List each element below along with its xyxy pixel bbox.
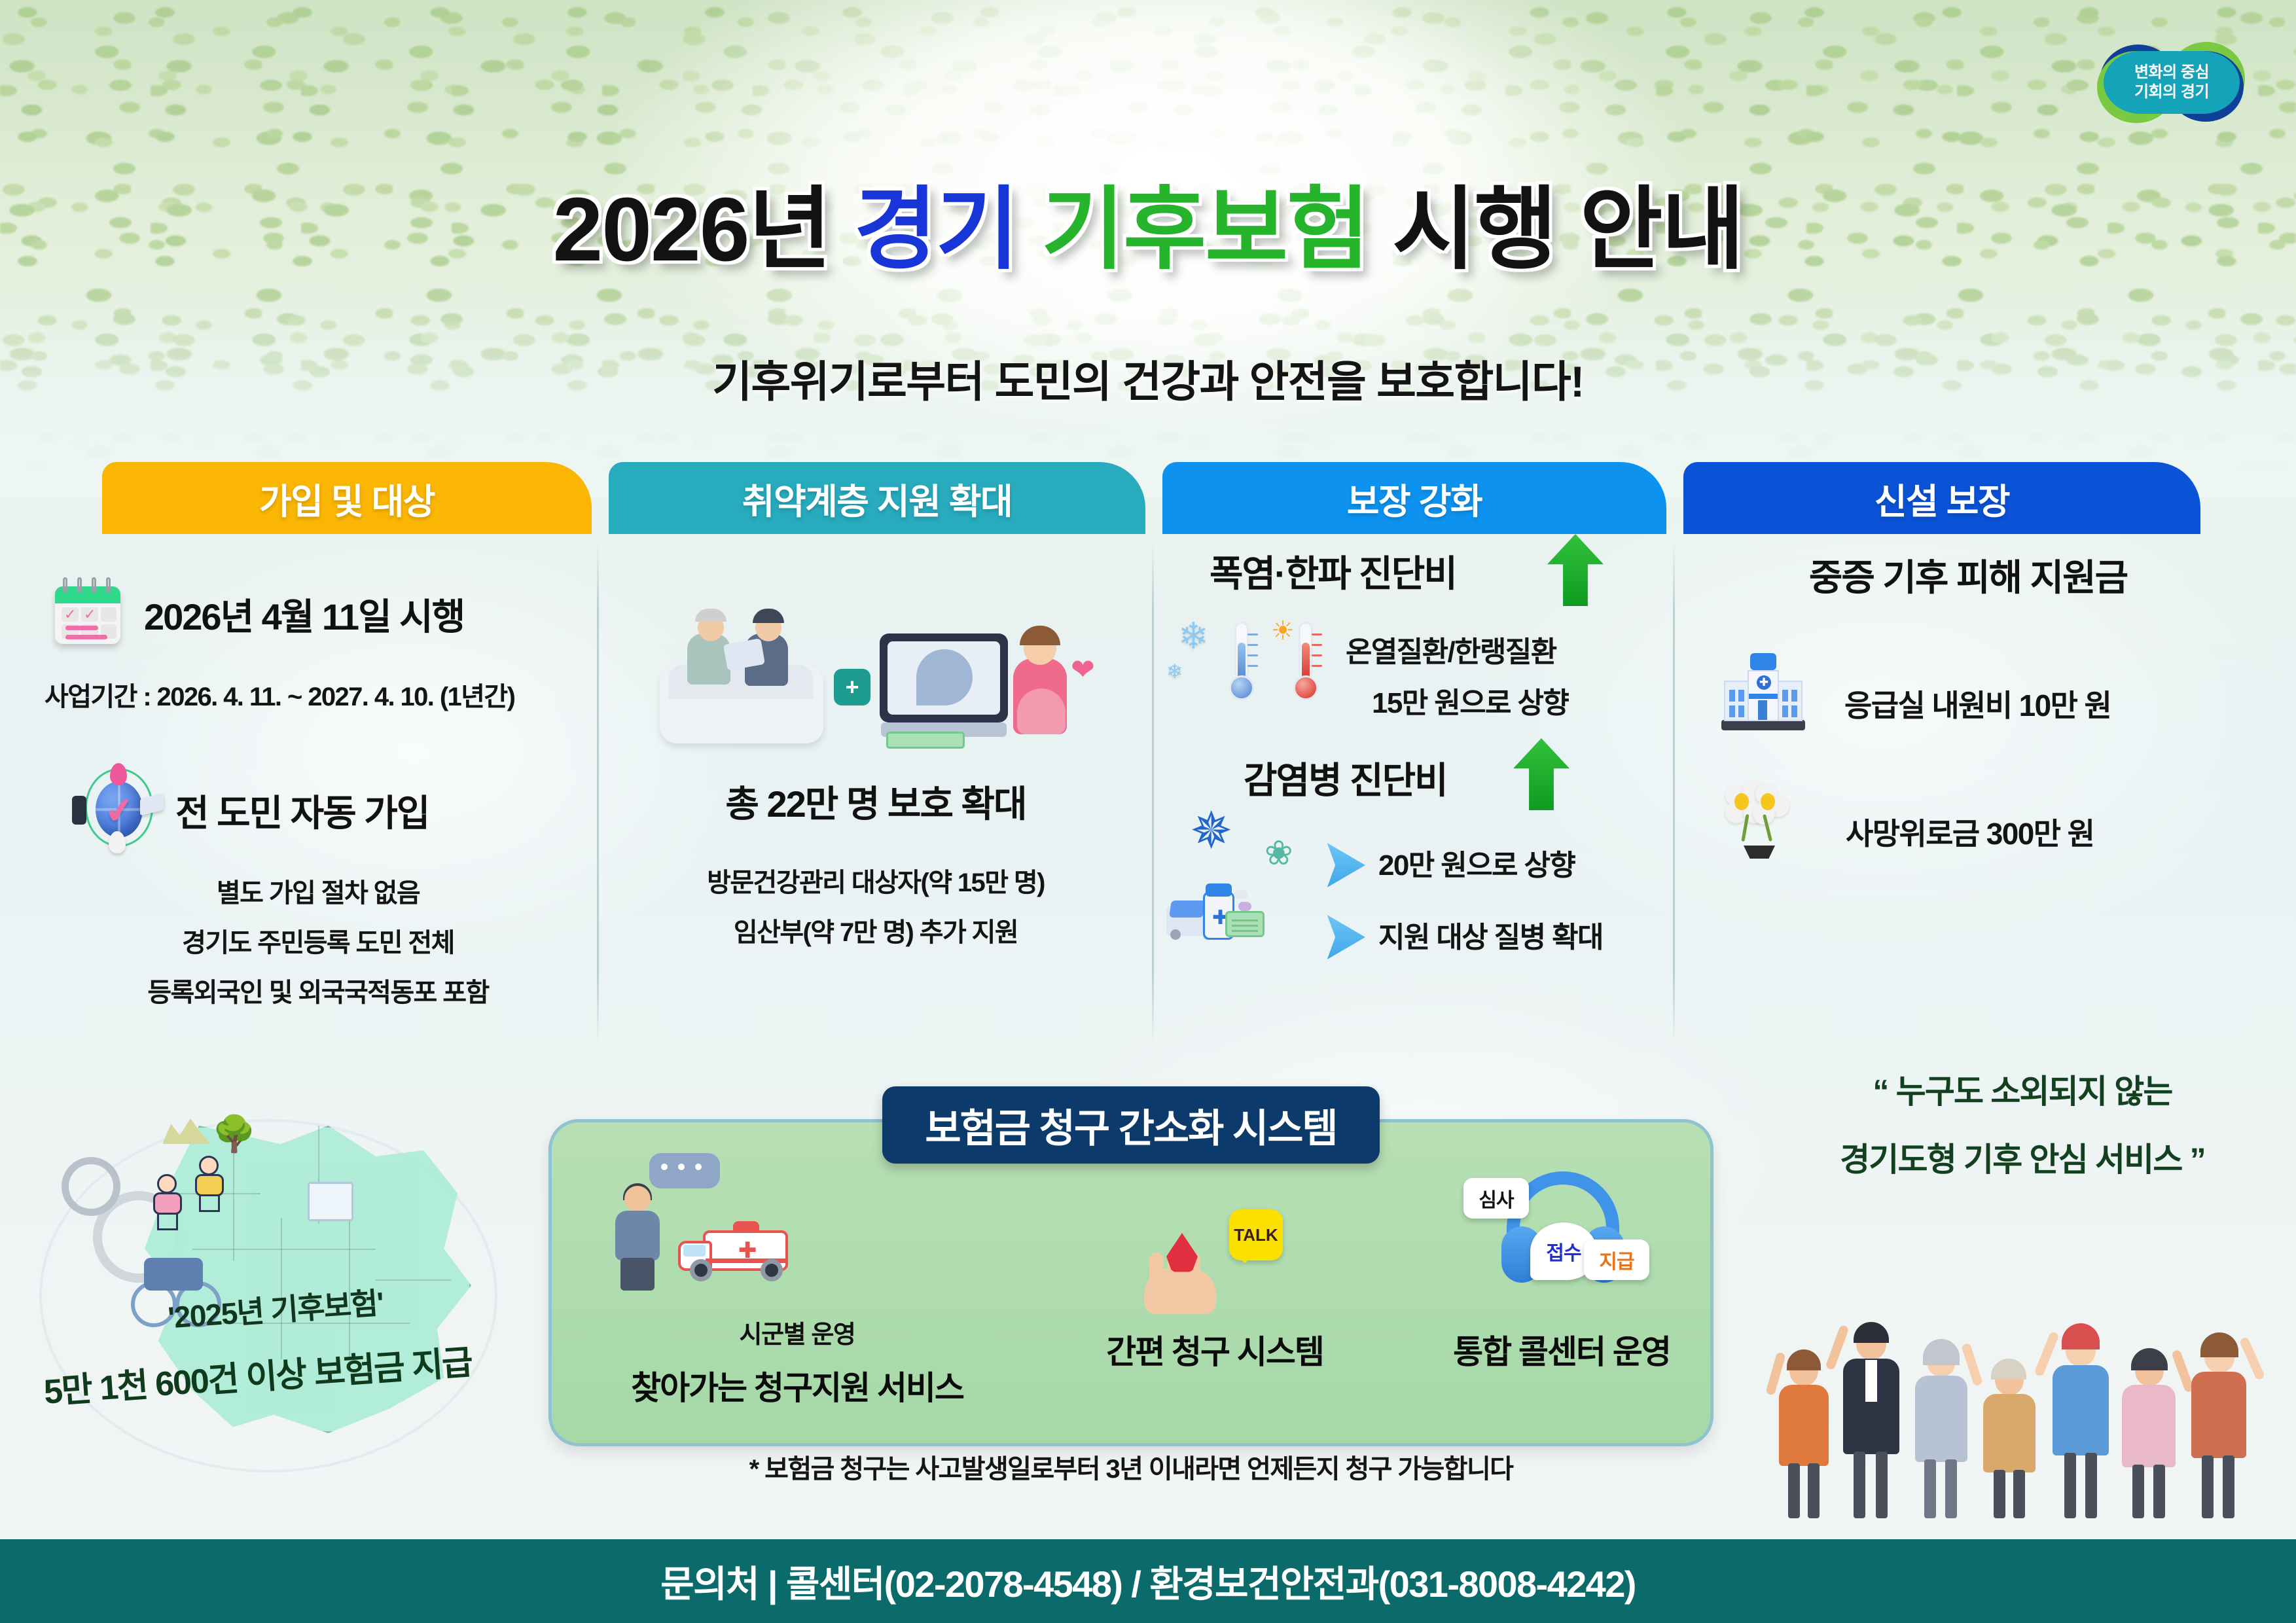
heart-icon: ❤: [1071, 656, 1095, 685]
coverage-detail-2a: 20만 원으로 상향: [1378, 842, 1575, 883]
footer-contact-text: 문의처 | 콜센터(02-2078-4548) / 환경보건안전과(031-80…: [660, 1555, 1636, 1608]
claim-system-badge-label: 보험금 청구 간소화 시스템: [925, 1097, 1336, 1154]
outreach-staff-icon: [609, 1186, 665, 1291]
vulnerable-heading: 총 22만 명 보호 확대: [601, 775, 1151, 828]
column-coverage: 폭염·한파 진단비 ❄ ❄ ☀ 온열질환/한랭질환 15만 원으로 상향 감염병…: [1156, 534, 1673, 1058]
sun-icon: ☀: [1271, 618, 1295, 644]
section-tabs: 가입 및 대상 취약계층 지원 확대 보장 강화 신설 보장: [0, 462, 2296, 534]
footer-contact-bar: 문의처 | 콜센터(02-2078-4548) / 환경보건안전과(031-80…: [0, 1539, 2296, 1623]
tab-new-coverage-label: 신설 보장: [1874, 473, 2009, 524]
crowd-person-3: [1905, 1314, 1978, 1518]
title-part-gyeonggi: 경기: [854, 179, 1041, 280]
signup-heading-2: 전 도민 자동 가입: [175, 784, 429, 837]
headset-icon: 심사 접수 지급: [1484, 1166, 1641, 1297]
claim-item-outreach[interactable]: 시군별 운영 찾아가는 청구지원 서비스: [575, 1314, 1020, 1409]
signup-period-line: 사업기간 : 2026. 4. 11. ~ 2027. 4. 10. (1년간): [45, 675, 514, 713]
gyeonggi-map-block: 🌳 '2025년 기후보험' 5만 1천 600건 이상 보험금 지급: [52, 1106, 550, 1492]
service-quote-line-1: “ 누구도 소외되지 않는: [1761, 1067, 2284, 1118]
cyclist-icon: [144, 1258, 203, 1291]
claim-item-callcenter[interactable]: 통합 콜센터 운영: [1391, 1326, 1732, 1373]
gyeonggi-logo: 변화의 중심 기회의 경기: [2096, 41, 2248, 124]
kakao-talk-label: TALK: [1234, 1225, 1278, 1245]
blue-triangle-icon-1: [1325, 843, 1365, 887]
kid-icon-2: [190, 1156, 229, 1212]
column-divider-1: [597, 541, 599, 1044]
coverage-detail-1b: 15만 원으로 상향: [1372, 679, 1568, 721]
kakao-talk-icon: TALK: [1229, 1209, 1283, 1260]
bacteria-icon: ❀: [1265, 836, 1293, 870]
column-signup: ✓ ✓ 2026년 4월 11일 시행 사업기간 : 2026. 4. 11. …: [39, 534, 597, 1058]
virus-icon: ✵: [1190, 805, 1232, 856]
tab-signup[interactable]: 가입 및 대상: [102, 462, 592, 534]
claim-footnote: * 보험금 청구는 사고발생일로부터 3년 이내라면 언제든지 청구 가능합니다: [548, 1448, 1713, 1486]
title-part-climate-insurance: 기후보험: [1041, 179, 1392, 280]
crowd-person-7: [2179, 1310, 2258, 1518]
tree-icon: 🌳: [212, 1116, 256, 1152]
logo-line-1: 변화의 중심: [2134, 63, 2209, 82]
up-arrow-icon-2: [1513, 738, 1570, 810]
thermometer-hot-icon: [1291, 622, 1321, 700]
blue-triangle-icon-2: [1325, 915, 1365, 959]
speech-bubble-icon: [649, 1153, 720, 1188]
column-new-coverage: 중증 기후 피해 지원금 ✚ 응급실 내원비 10만 원 사망위로금 300만 …: [1677, 534, 2259, 1058]
snowflake-icon-small: ❄: [1166, 662, 1183, 682]
signup-heading-1: 2026년 4월 11일 시행: [144, 588, 464, 641]
crowd-illustration: [1767, 1237, 2284, 1518]
calendar-icon: ✓ ✓: [52, 577, 123, 645]
gear-icon-small: [62, 1157, 120, 1216]
headset-tag-payment: 지급: [1584, 1240, 1649, 1280]
claim-item-callcenter-main: 통합 콜센터 운영: [1391, 1326, 1732, 1373]
claim-item-simple-claim[interactable]: 간편 청구 시스템: [1031, 1326, 1398, 1373]
column-divider-3: [1673, 541, 1675, 1044]
vulnerable-detail-2: 임산부(약 7만 명) 추가 지원: [601, 911, 1151, 949]
coverage-heading-1: 폭염·한파 진단비: [1210, 544, 1456, 597]
snowflake-icon: ❄: [1178, 618, 1209, 654]
signup-detail-1: 별도 가입 절차 없음: [39, 872, 597, 910]
claim-item-simple-claim-main: 간편 청구 시스템: [1031, 1326, 1398, 1373]
headset-tag-review: 심사: [1463, 1178, 1529, 1219]
hospital-icon: ✚: [1720, 652, 1806, 730]
tab-coverage-label: 보장 강화: [1347, 473, 1482, 524]
money-icon: [886, 732, 965, 749]
tab-signup-label: 가입 및 대상: [259, 473, 435, 524]
logo-core: 변화의 중심 기회의 경기: [2104, 51, 2240, 114]
crowd-person-2: [1831, 1302, 1910, 1518]
flowers-icon: [1724, 780, 1796, 859]
medicine-icon: ✚: [1166, 861, 1265, 940]
service-quote: “ 누구도 소외되지 않는 경기도형 기후 안심 서비스 ”: [1761, 1067, 2284, 1185]
vulnerable-detail-1: 방문건강관리 대상자(약 15만 명): [601, 861, 1151, 899]
crowd-person-6: [2111, 1318, 2187, 1518]
coverage-heading-2: 감염병 진단비: [1244, 751, 1447, 804]
title-part-year: 2026년: [553, 179, 854, 280]
auto-enroll-globe-icon: ✔: [76, 764, 162, 851]
poster-subtitle: 기후위기로부터 도민의 건강과 안전을 보호합니다!: [0, 347, 2296, 410]
coverage-detail-1a: 온열질환/한랭질환: [1346, 628, 1556, 670]
claim-system-badge: 보험금 청구 간소화 시스템: [882, 1086, 1380, 1164]
up-arrow-icon-1: [1547, 534, 1604, 606]
claim-item-outreach-main: 찾아가는 청구지원 서비스: [575, 1362, 1020, 1409]
vulnerable-illustration: + ❤: [647, 560, 1105, 757]
column-divider-2: [1152, 541, 1154, 1044]
headset-tag-receive-label: 접수: [1546, 1237, 1581, 1266]
headset-tag-payment-label: 지급: [1599, 1245, 1634, 1274]
title-part-announcement: 시행 안내: [1392, 179, 1743, 280]
tab-vulnerable-label: 취약계층 지원 확대: [742, 473, 1012, 524]
crowd-person-5: [2042, 1306, 2118, 1518]
new-coverage-detail-2: 사망위로금 300만 원: [1846, 810, 2094, 853]
tab-new-coverage[interactable]: 신설 보장: [1683, 462, 2200, 534]
signup-detail-3: 등록외국인 및 외국국적동포 포함: [39, 971, 597, 1009]
service-quote-line-2: 경기도형 기후 안심 서비스 ”: [1761, 1135, 2284, 1186]
ambulance-icon: ✚: [675, 1204, 813, 1283]
crowd-person-1: [1767, 1322, 1839, 1518]
building-icon: [308, 1182, 353, 1221]
new-coverage-heading: 중증 기후 피해 지원금: [1677, 548, 2259, 601]
new-coverage-detail-1: 응급실 내원비 10만 원: [1844, 682, 2111, 725]
thermometer-cold-icon: [1227, 622, 1257, 700]
coverage-detail-2b: 지원 대상 질병 확대: [1378, 914, 1603, 955]
claim-item-outreach-sub: 시군별 운영: [575, 1314, 1020, 1350]
kid-icon-1: [148, 1174, 187, 1230]
headset-tag-review-label: 심사: [1479, 1184, 1513, 1213]
crowd-person-4: [1973, 1325, 2046, 1518]
column-vulnerable: + ❤ 총 22만 명 보호 확대 방문건강관리 대상자(약 15만 명) 임산…: [601, 534, 1151, 1058]
poster-root: 변화의 중심 기회의 경기 2026년 경기 기후보험 시행 안내 기후위기로부…: [0, 0, 2296, 1623]
signup-detail-2: 경기도 주민등록 도민 전체: [39, 921, 597, 959]
tab-vulnerable[interactable]: 취약계층 지원 확대: [609, 462, 1145, 534]
logo-line-2: 기회의 경기: [2134, 83, 2209, 101]
tab-coverage[interactable]: 보장 강화: [1162, 462, 1666, 534]
poster-title: 2026년 경기 기후보험 시행 안내: [0, 156, 2296, 287]
medical-cross-icon: +: [834, 669, 870, 705]
